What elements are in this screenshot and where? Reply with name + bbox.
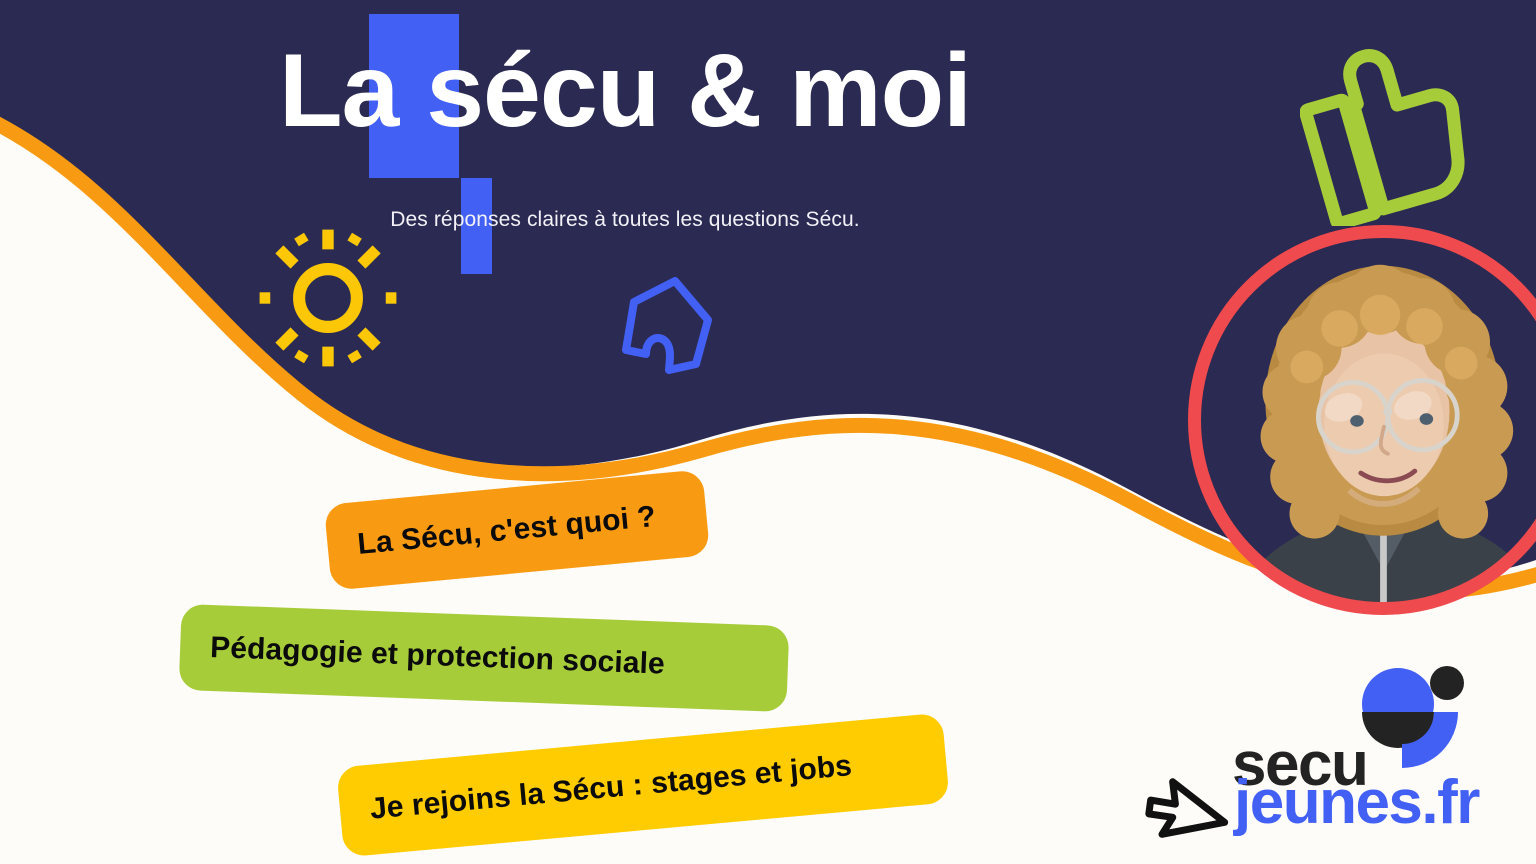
portrait-avatar [1188, 225, 1536, 615]
thumbs-up-icon [1300, 36, 1480, 226]
pill-label: La Sécu, c'est quoi ? [356, 500, 657, 562]
secujeunes-logo[interactable]: secu jeunes.fr [1226, 660, 1526, 832]
house-outline-icon [612, 272, 722, 377]
pill-label: Pédagogie et protection sociale [210, 631, 666, 682]
logo-mark-icon [1354, 664, 1466, 774]
page-subtitle: Des réponses claires à toutes les questi… [0, 208, 1250, 232]
portrait-image-clip [1195, 232, 1536, 608]
slide-canvas: La sécu & moi Des réponses claires à tou… [0, 0, 1536, 864]
sun-icon [252, 222, 404, 374]
mouse-cursor-icon [1138, 772, 1234, 858]
page-title: La sécu & moi [0, 32, 1250, 152]
pill-label: Je rejoins la Sécu : stages et jobs [369, 749, 854, 827]
logo-word-jeunes: jeunes.fr [1234, 772, 1479, 834]
portrait-illustration [1195, 232, 1536, 608]
